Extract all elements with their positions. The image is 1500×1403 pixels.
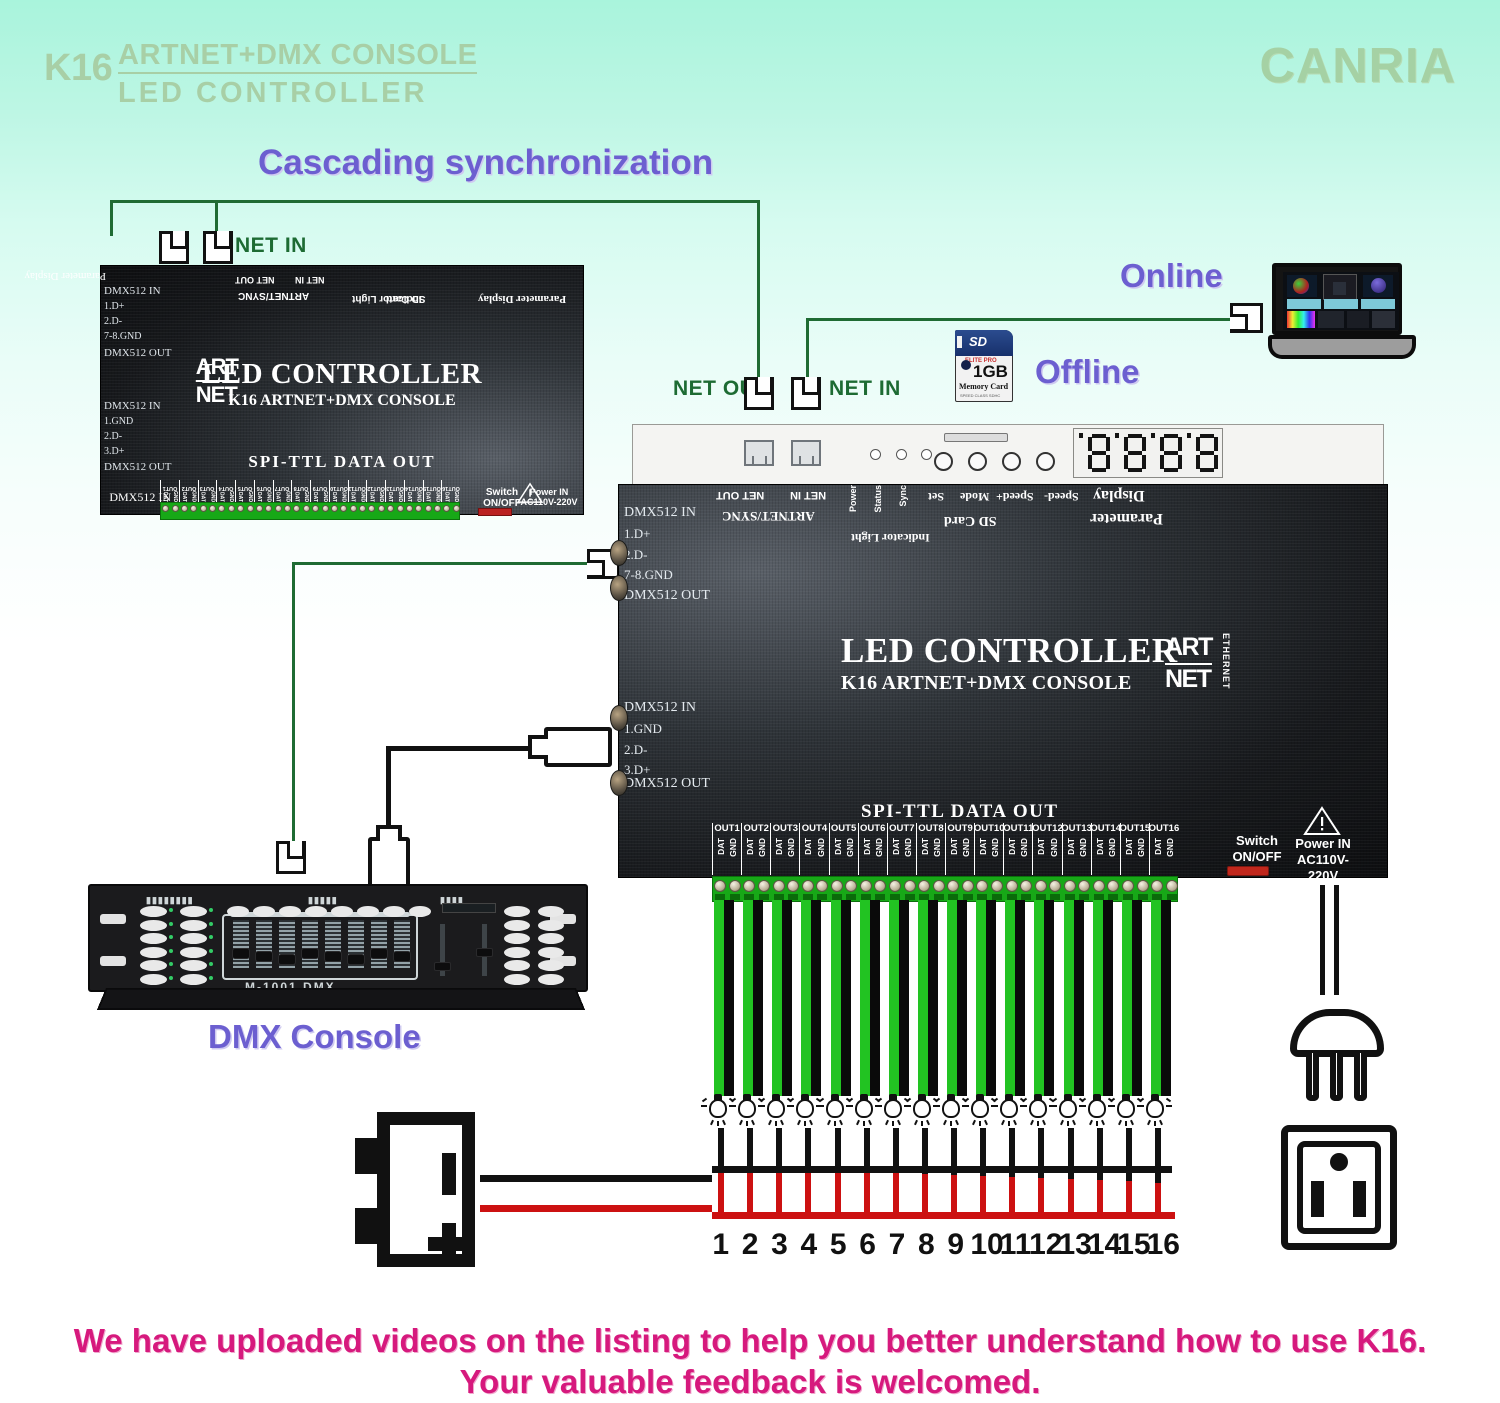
sec-terminal-screw[interactable] — [228, 505, 235, 512]
led-strip-ground — [782, 900, 792, 1096]
sec-terminal-screw[interactable] — [331, 505, 338, 512]
terminal-screw[interactable] — [1166, 880, 1178, 892]
sec-title-sub: K16 ARTNET+DMX CONSOLE — [202, 392, 482, 410]
wall-outlet-icon — [1281, 1125, 1397, 1250]
output-pin-gnd: GND — [757, 838, 767, 857]
sec-terminal-screw[interactable] — [359, 505, 366, 512]
terminal-screw[interactable] — [743, 880, 755, 892]
lamp-icon — [1086, 1094, 1108, 1124]
dmx-console-top-button[interactable] — [279, 906, 301, 917]
dmx-console-fader-knob[interactable] — [255, 951, 273, 962]
sec-terminal-screw[interactable] — [162, 505, 169, 512]
sec-terminal-screw[interactable] — [284, 505, 291, 512]
dmx-console-button-led — [169, 962, 173, 966]
sd-oval-mark — [961, 360, 971, 370]
terminal-screw[interactable] — [1122, 880, 1134, 892]
plug-pin-left — [1306, 1053, 1319, 1101]
sec-terminal-screw[interactable] — [312, 505, 319, 512]
sec-dmx-in-1: DMX512 IN — [104, 285, 161, 297]
led-power — [870, 449, 881, 460]
sec-output-label-cell: OUT4DATGND — [216, 480, 235, 502]
sec-output-pin-gnd: GND — [341, 491, 347, 502]
main-artnet-ethernet: ETHERNET — [1221, 633, 1231, 690]
wire-online-horiz — [806, 318, 1233, 321]
terminal-screw[interactable] — [976, 880, 988, 892]
sec-output-pin-dat: DAT — [406, 492, 412, 502]
main-dmx-out-bottom-label: DMX512 OUT — [624, 776, 710, 792]
sec-output-pin-gnd: GND — [209, 491, 215, 502]
led-strip-signal — [976, 900, 986, 1096]
main-power-in-word: Power IN — [1295, 836, 1351, 851]
sec-terminal-screw[interactable] — [350, 505, 357, 512]
sec-output-pin-dat: DAT — [162, 492, 168, 502]
dmx-console-right-button[interactable] — [504, 960, 530, 971]
output-label: OUT5 — [831, 823, 856, 834]
sec-output-labels: OUT1DATGNDOUT2DATGNDOUT3DATGNDOUT4DATGND… — [160, 480, 460, 502]
dmx-console-right-button[interactable] — [538, 933, 564, 944]
led-strip-signal — [743, 900, 753, 1096]
dmx-console-section-left: ▮▮▮▮▮▮▮▮ — [146, 895, 194, 906]
led-strip-ground — [986, 900, 996, 1096]
led-strip-ground — [957, 900, 967, 1096]
sec-terminal-screw[interactable] — [434, 505, 441, 512]
output-pin-dat: DAT — [1153, 838, 1163, 855]
led-strip-signal — [1151, 900, 1161, 1096]
label-net-in-top: NET IN — [235, 234, 307, 258]
terminal-screw[interactable] — [845, 880, 857, 892]
output-pin-gnd: GND — [1165, 838, 1175, 857]
channel-number: 6 — [853, 1228, 882, 1262]
led-status — [896, 449, 907, 460]
sec-output-pin-dat: DAT — [312, 492, 318, 502]
dmx-console-top-button[interactable] — [253, 906, 275, 917]
terminal-screw[interactable] — [874, 880, 886, 892]
rj45-plug-laptop[interactable] — [1230, 303, 1263, 333]
rj45-plug-top-left[interactable] — [159, 231, 189, 264]
sec-terminal-screw[interactable] — [265, 505, 272, 512]
lamp-icon — [969, 1094, 991, 1124]
lamp-icon — [794, 1094, 816, 1124]
marketing-line2: Your valuable feedback is welcomed. — [0, 1361, 1500, 1402]
output-label-cell: OUT12DATGND — [1032, 823, 1061, 875]
dmx-console-right-button[interactable] — [538, 920, 564, 931]
sec-output-label-cell: OUT15DATGND — [423, 480, 442, 502]
dmx-console-scene-button[interactable] — [140, 947, 167, 958]
terminal-screw[interactable] — [1107, 880, 1119, 892]
terminal-screw[interactable] — [1151, 880, 1163, 892]
channel-number: 15 — [1117, 1228, 1146, 1262]
bus-black-main — [480, 1175, 712, 1182]
dmx-console-button-led — [209, 922, 213, 926]
main-button-set-label: Set — [928, 489, 944, 504]
channel-number: 3 — [765, 1228, 794, 1262]
terminal-screw[interactable] — [904, 880, 916, 892]
dmx-console-top-button[interactable] — [227, 906, 249, 917]
sec-power-label: Power INAC110V-220V — [519, 487, 579, 507]
sec-terminal-screw[interactable] — [425, 505, 432, 512]
header-title-block: ARTNET+DMX CONSOLE LED CONTROLLER — [118, 40, 477, 110]
sec-output-label-cell: OUT13DATGND — [385, 480, 404, 502]
plug-pin-center — [1330, 1053, 1343, 1101]
button-mode[interactable] — [968, 452, 987, 471]
output-pin-dat: DAT — [803, 838, 813, 855]
page-header: K16 ARTNET+DMX CONSOLE LED CONTROLLER CA… — [0, 0, 1500, 120]
output-pin-dat: DAT — [833, 838, 843, 855]
dmx-console-fader-knob[interactable] — [347, 954, 365, 965]
led-strip-ground — [1161, 900, 1171, 1096]
rj45-plug-top-netin[interactable] — [203, 231, 233, 264]
led-strip-group — [712, 900, 1178, 1100]
dmx-console-button-led — [169, 935, 173, 939]
dmx-console-fader-knob[interactable] — [324, 951, 342, 962]
sec-terminal-screw[interactable] — [237, 505, 244, 512]
main-dmx-in-top-label: DMX512 IN — [624, 505, 696, 521]
dmx-console-scene-button[interactable] — [180, 933, 207, 944]
dmx-console-right-button[interactable] — [504, 947, 530, 958]
dmx-console-fader-knob[interactable] — [278, 954, 296, 965]
sec-terminal-screw[interactable] — [190, 505, 197, 512]
sec-output-label-cell: OUT16DATGND — [441, 480, 460, 502]
dmx-console-right-button[interactable] — [538, 906, 564, 917]
main-button-speedplus-label: Speed+ — [996, 489, 1034, 504]
dmx-console-button-led — [169, 976, 173, 980]
led-strip-ground — [1132, 900, 1142, 1096]
main-pin-bot-1: 1.GND — [624, 721, 662, 737]
terminal-screw[interactable] — [773, 880, 785, 892]
main-button-speedminus-label: Speed- — [1044, 489, 1079, 504]
dmx-console-top-button[interactable] — [409, 906, 431, 917]
sec-terminal-screw[interactable] — [378, 505, 385, 512]
sec-output-pin-dat: DAT — [200, 492, 206, 502]
main-switch-word: Switch — [1236, 833, 1278, 848]
sec-terminal-screw[interactable] — [181, 505, 188, 512]
dmx-console-scene-button[interactable] — [140, 960, 167, 971]
sec-terminal-block[interactable] — [160, 502, 460, 520]
terminal-screw[interactable] — [816, 880, 828, 892]
output-label-cell: OUT14DATGND — [1091, 823, 1120, 875]
dmx-console-fader-track[interactable] — [371, 920, 387, 968]
rj45-plug-main-netin[interactable] — [791, 377, 821, 410]
output-label-cell: OUT13DATGND — [1062, 823, 1091, 875]
dmx-console-body: ▮▮▮▮▮▮▮▮ ▮▮▮▮▮ ▮▮▮▮ M-1001 DMX — [88, 884, 588, 992]
sd-card-notch — [957, 336, 962, 348]
lamp-icon — [882, 1094, 904, 1124]
output-pin-gnd: GND — [1078, 838, 1088, 857]
terminal-screw[interactable] — [889, 880, 901, 892]
main-title-sub: K16 ARTNET+DMX CONSOLE — [841, 672, 1178, 695]
wire-black-drop — [776, 1128, 782, 1168]
marketing-text: We have uploaded videos on the listing t… — [0, 1320, 1500, 1402]
main-led-status-label: Status — [873, 485, 883, 513]
terminal-screw[interactable] — [1093, 880, 1105, 892]
main-dmx-out-top-label: DMX512 OUT — [624, 588, 710, 604]
label-cascading-synchronization: Cascading synchronization — [258, 143, 713, 183]
sec-output-label-cell: OUT12DATGND — [366, 480, 385, 502]
output-pin-gnd: GND — [816, 838, 826, 857]
sec-spi-ttl-label: SPI-TTL DATA OUT — [248, 452, 435, 472]
rj45-plug-console-out[interactable] — [276, 841, 306, 874]
sec-terminal-screw[interactable] — [397, 505, 404, 512]
sec-power-switch[interactable] — [478, 508, 512, 516]
dmx-console-scene-button[interactable] — [140, 906, 167, 917]
main-terminal-block[interactable] — [712, 876, 1178, 902]
output-label: OUT10 — [974, 823, 1005, 834]
lamp-icon — [824, 1094, 846, 1124]
output-label: OUT11 — [1003, 823, 1033, 834]
sec-terminal-screw[interactable] — [340, 505, 347, 512]
dmx-console-right-button[interactable] — [504, 974, 530, 985]
sec-terminal-screw[interactable] — [443, 505, 450, 512]
dmx-console-fader-track[interactable] — [233, 920, 249, 968]
xlr-connector-female-neck — [376, 825, 402, 841]
main-led-controller[interactable]: LED CONTROLLER K16 ARTNET+DMX CONSOLE AR… — [618, 484, 1388, 878]
terminal-screw[interactable] — [947, 880, 959, 892]
dmx-console-scene-button[interactable] — [140, 920, 167, 931]
sec-branding-block: LED CONTROLLER K16 ARTNET+DMX CONSOLE — [202, 358, 482, 410]
wire-black-drop — [747, 1128, 753, 1167]
dmx-console-scene-button[interactable] — [180, 947, 207, 958]
wire-black-drop — [1126, 1128, 1132, 1181]
sec-output-pin-dat: DAT — [181, 492, 187, 502]
terminal-screw[interactable] — [1049, 880, 1061, 892]
wire-dmx-green-horiz — [292, 562, 609, 565]
output-label-cell: OUT16DATGND — [1149, 823, 1178, 875]
wire-cascade-down-to-netout — [757, 200, 760, 380]
wire-black-drop — [835, 1128, 841, 1170]
sec-terminal-screw[interactable] — [387, 505, 394, 512]
sec-terminal-screw[interactable] — [453, 505, 460, 512]
main-dmx-in-bottom-label: DMX512 IN — [624, 700, 696, 716]
dmx-console-device[interactable]: ▮▮▮▮▮▮▮▮ ▮▮▮▮▮ ▮▮▮▮ M-1001 DMX — [88, 884, 588, 1014]
output-pin-gnd: GND — [1136, 838, 1146, 857]
sec-artnet-sync-label: ARTNET/SYNC — [238, 290, 309, 301]
main-output-label-row: OUT1DATGNDOUT2DATGNDOUT3DATGNDOUT4DATGND… — [712, 823, 1178, 875]
dmx-console-right-button[interactable] — [504, 906, 530, 917]
terminal-screw[interactable] — [860, 880, 872, 892]
output-label: OUT9 — [947, 823, 972, 834]
output-pin-dat: DAT — [716, 838, 726, 855]
display-digit-2 — [1124, 434, 1146, 472]
sec-terminal-screw[interactable] — [368, 505, 375, 512]
output-pin-gnd: GND — [1049, 838, 1059, 857]
terminal-screw[interactable] — [1137, 880, 1149, 892]
terminal-screw[interactable] — [918, 880, 930, 892]
sd-card-slot[interactable] — [944, 433, 1008, 442]
dmx-console-right-button[interactable] — [538, 947, 564, 958]
terminal-screw[interactable] — [831, 880, 843, 892]
sec-output-label-cell: OUT10DATGND — [329, 480, 348, 502]
button-set[interactable] — [934, 452, 953, 471]
sec-dmx-in-2: DMX512 IN — [104, 400, 161, 412]
dmx-console-scene-button[interactable] — [140, 933, 167, 944]
sec-terminal-screw[interactable] — [275, 505, 282, 512]
terminal-screw[interactable] — [1064, 880, 1076, 892]
main-display-word: Display — [1093, 486, 1145, 504]
header-model: K16 — [44, 47, 112, 90]
output-pin-gnd: GND — [728, 838, 738, 857]
dmx-console-fader-knob[interactable] — [370, 948, 388, 959]
main-parameter-word: Parameter — [1090, 509, 1163, 527]
dmx-console-fader-knob[interactable] — [232, 948, 250, 959]
output-label-cell: OUT8DATGND — [916, 823, 945, 875]
dmx-console-top-button[interactable] — [383, 906, 405, 917]
product-diagram-page: K16 ARTNET+DMX CONSOLE LED CONTROLLER CA… — [0, 0, 1500, 1403]
output-pin-dat: DAT — [891, 838, 901, 855]
laptop-graphic[interactable] — [1268, 263, 1416, 361]
sec-terminal-screw[interactable] — [322, 505, 329, 512]
sec-output-pin-dat: DAT — [368, 492, 374, 502]
terminal-screw[interactable] — [1006, 880, 1018, 892]
dmx-console-button-led — [209, 976, 213, 980]
dmx-console-fader-track[interactable] — [302, 920, 318, 968]
dmx-console-top-button[interactable] — [331, 906, 353, 917]
dmx-console-right-button[interactable] — [504, 920, 530, 931]
terminal-screw[interactable] — [933, 880, 945, 892]
output-pin-dat: DAT — [1095, 838, 1105, 855]
terminal-screw[interactable] — [802, 880, 814, 892]
led-strip-ground — [1015, 900, 1025, 1096]
main-title-main: LED CONTROLLER — [841, 631, 1178, 671]
laptop-screen — [1283, 272, 1399, 330]
sec-artnet-art: ART — [196, 354, 238, 380]
terminal-screw[interactable] — [758, 880, 770, 892]
master-fader-knob-2[interactable] — [476, 948, 493, 957]
dmx-console-right-button[interactable] — [538, 960, 564, 971]
xlr-jack-out-top[interactable] — [610, 575, 628, 601]
dmx-console-top-button[interactable] — [305, 906, 327, 917]
main-artnet-net: NET — [1165, 663, 1212, 694]
sec-artnet-net: NET — [196, 380, 238, 408]
output-pin-dat: DAT — [1007, 838, 1017, 855]
led-strip-signal — [772, 900, 782, 1096]
led-strip-ground — [1044, 900, 1054, 1096]
led-strip-signal — [860, 900, 870, 1096]
display-digit-1 — [1088, 434, 1110, 472]
main-port-net-in[interactable] — [791, 440, 821, 466]
main-artnet-sync-label: ARTNET/SYNC — [722, 508, 815, 524]
rack-ear-slot-bl — [100, 956, 126, 966]
master-fader-knob-1[interactable] — [434, 962, 451, 971]
sec-terminal-screw[interactable] — [172, 505, 179, 512]
sec-sdcard-label: SD Card — [386, 293, 425, 304]
rack-ear-slot-tl — [100, 914, 126, 924]
output-label: OUT7 — [889, 823, 914, 834]
outlet-slot-right — [1353, 1181, 1366, 1217]
dmx-console-fader-knob[interactable] — [393, 951, 411, 962]
sec-pin-3: 7-8.GND — [104, 331, 142, 342]
terminal-screw[interactable] — [1078, 880, 1090, 892]
terminal-screw[interactable] — [962, 880, 974, 892]
sec-output-pin-gnd: GND — [453, 491, 459, 502]
sec-terminal-screw[interactable] — [303, 505, 310, 512]
xlr-jack-in-top[interactable] — [610, 540, 628, 566]
wire-cascade-top-run — [215, 200, 760, 203]
terminal-screw[interactable] — [991, 880, 1003, 892]
sd-fine-print: SPEED CLASS SDHC — [960, 393, 1000, 398]
rj45-plug-main-netout[interactable] — [744, 377, 774, 410]
sec-terminal-screw[interactable] — [200, 505, 207, 512]
terminal-screw[interactable] — [714, 880, 726, 892]
terminal-screw[interactable] — [1020, 880, 1032, 892]
lamp-icon — [998, 1094, 1020, 1124]
brand-logo: CANRIA — [1259, 38, 1456, 94]
sec-output-pin-gnd: GND — [191, 491, 197, 502]
sec-terminal-screw[interactable] — [209, 505, 216, 512]
lamp-icon — [853, 1094, 875, 1124]
lamp-icon — [765, 1094, 787, 1124]
sec-terminal-screw[interactable] — [247, 505, 254, 512]
main-port-net-out[interactable] — [744, 440, 774, 466]
sec-parameter-display-label: Parameter Display — [478, 293, 566, 305]
sec-output-label-cell: OUT9DATGND — [310, 480, 329, 502]
led-strip-ground — [1103, 900, 1113, 1096]
lamp-icon — [1115, 1094, 1137, 1124]
channel-number: 2 — [735, 1228, 764, 1262]
xlr-jack-out-bottom[interactable] — [610, 770, 628, 796]
terminal-screw[interactable] — [787, 880, 799, 892]
lamp-icon — [1057, 1094, 1079, 1124]
dmx-console-scene-button[interactable] — [140, 974, 167, 985]
channel-number: 13 — [1059, 1228, 1088, 1262]
sec-terminal-screw[interactable] — [406, 505, 413, 512]
sec-terminal-screw[interactable] — [415, 505, 422, 512]
terminal-screw[interactable] — [1035, 880, 1047, 892]
sd-card-graphic: SD ELITE PRO 1GB Memory Card SPEED CLASS… — [955, 330, 1013, 402]
psu-negative-terminal-icon — [442, 1153, 456, 1195]
button-speed-minus[interactable] — [1036, 452, 1055, 471]
output-label-cell: OUT6DATGND — [858, 823, 887, 875]
dmx-console-top-button[interactable] — [357, 906, 379, 917]
plug-dome — [1290, 1009, 1384, 1057]
sec-output-pin-gnd: GND — [359, 491, 365, 502]
dmx-console-scene-button[interactable] — [180, 974, 207, 985]
xlr-connector-male[interactable] — [544, 727, 612, 767]
dmx-console-fader-knob[interactable] — [301, 948, 319, 959]
dmx-console-scene-button[interactable] — [180, 920, 207, 931]
dmx-console-right-button[interactable] — [504, 933, 530, 944]
outlet-slot-left — [1311, 1181, 1324, 1217]
led-strip-signal — [1005, 900, 1015, 1096]
output-pin-dat: DAT — [745, 838, 755, 855]
display-digit-4 — [1196, 434, 1218, 472]
sec-netin-port-label: NET IN — [295, 275, 325, 285]
button-speed-plus[interactable] — [1002, 452, 1021, 471]
sec-terminal-screw[interactable] — [218, 505, 225, 512]
sec-terminal-screw[interactable] — [293, 505, 300, 512]
terminal-screw[interactable] — [729, 880, 741, 892]
dmx-console-scene-button[interactable] — [180, 906, 207, 917]
main-power-switch[interactable] — [1227, 866, 1269, 876]
dmx-console-right-button[interactable] — [538, 974, 564, 985]
sec-terminal-screw[interactable] — [256, 505, 263, 512]
label-online: Online — [1120, 257, 1223, 295]
xlr-jack-in-bottom[interactable] — [610, 705, 628, 731]
channel-number: 11 — [1000, 1228, 1029, 1262]
sec-output-pin-gnd: GND — [434, 491, 440, 502]
main-artnet-art: ART — [1165, 633, 1212, 662]
dmx-console-scene-button[interactable] — [180, 960, 207, 971]
led-strip-signal — [1122, 900, 1132, 1096]
main-pin-top-1: 1.D+ — [624, 526, 650, 542]
output-label-cell: OUT9DATGND — [945, 823, 974, 875]
bus-black-run — [712, 1166, 1172, 1173]
output-pin-gnd: GND — [990, 838, 1000, 857]
dmx-console-button-led — [169, 949, 173, 953]
output-pin-gnd: GND — [845, 838, 855, 857]
sec-label-display-flipped: Parameter Display — [24, 270, 106, 282]
sec-pin-4: 1.GND — [104, 416, 133, 427]
header-line2: LED CONTROLLER — [118, 76, 477, 110]
